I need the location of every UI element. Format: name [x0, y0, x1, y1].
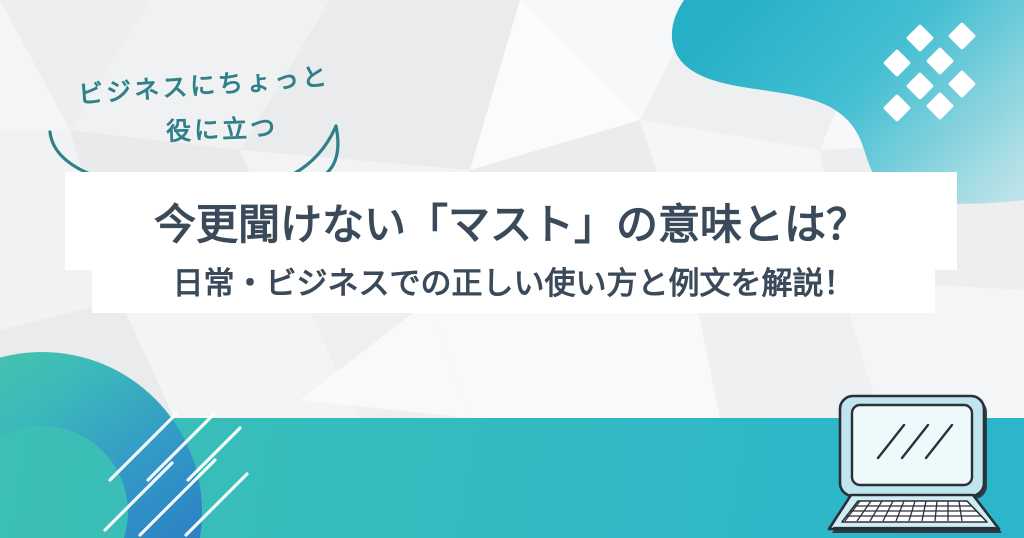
- page-subtitle: 日常・ビジネスでの正しい使い方と例文を解説！: [92, 247, 935, 313]
- laptop-illustration: [826, 392, 1016, 538]
- banner-canvas: ビジネスにちょっと 役に立つ 今更聞けない「マスト」の意味とは？ 日常・ビジネス…: [0, 0, 1024, 538]
